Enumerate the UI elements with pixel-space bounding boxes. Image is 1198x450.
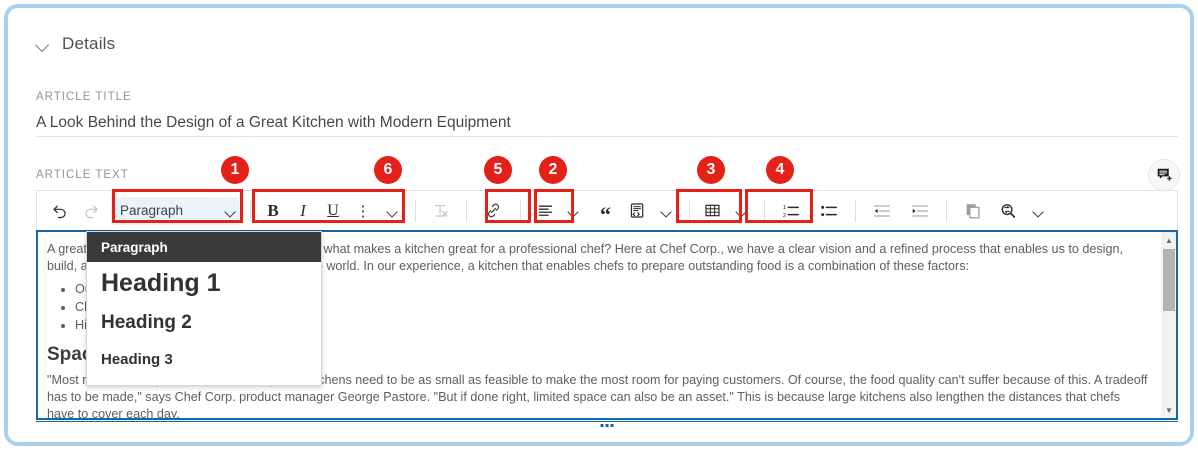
- increase-indent-icon: [910, 201, 930, 221]
- annotation-badge-6: 6: [374, 156, 402, 184]
- decrease-indent-button[interactable]: [863, 196, 901, 226]
- add-comment-button[interactable]: [1148, 159, 1180, 191]
- toolbar-divider: [689, 200, 690, 222]
- bold-button[interactable]: B: [258, 196, 288, 226]
- blockquote-button[interactable]: “: [589, 196, 622, 226]
- insert-table-button[interactable]: [697, 196, 727, 226]
- align-left-icon: [536, 201, 555, 220]
- toolbar-divider: [855, 200, 856, 222]
- increase-indent-button[interactable]: [901, 196, 939, 226]
- annotation-badge-4: 4: [766, 156, 794, 184]
- scroll-down-icon[interactable]: ▼: [1161, 402, 1177, 418]
- bulleted-list-button[interactable]: [810, 196, 848, 226]
- numbered-list-icon: 1 2: [781, 201, 801, 221]
- toolbar-divider: [946, 200, 947, 222]
- remove-format-icon: [431, 201, 451, 221]
- paragraph-style-dropdown-menu[interactable]: Paragraph Heading 1 Heading 2 Heading 3: [86, 231, 322, 386]
- page-frame: Details ARTICLE TITLE A Look Behind the …: [4, 4, 1194, 446]
- editor-toolbar: Paragraph B I U ⋮: [36, 190, 1178, 230]
- svg-text:2: 2: [783, 212, 786, 218]
- scrollbar-thumb[interactable]: [1163, 249, 1175, 311]
- remove-format-button[interactable]: [423, 196, 459, 226]
- article-title-label: ARTICLE TITLE: [36, 91, 132, 103]
- add-comment-icon: [1156, 167, 1173, 184]
- underline-button[interactable]: U: [318, 196, 348, 226]
- toolbar-divider: [764, 200, 765, 222]
- scroll-up-icon[interactable]: ▲: [1161, 232, 1177, 248]
- find-replace-icon: [998, 201, 1018, 221]
- italic-button[interactable]: I: [288, 196, 318, 226]
- code-block-button[interactable]: [622, 196, 652, 226]
- decrease-indent-icon: [872, 201, 892, 221]
- editor-resize-handle[interactable]: [36, 421, 1178, 428]
- svg-text:1: 1: [783, 205, 786, 211]
- article-title-input[interactable]: A Look Behind the Design of a Great Kitc…: [36, 114, 511, 132]
- paragraph-style-select[interactable]: Paragraph: [111, 197, 239, 225]
- quote-icon: “: [600, 205, 611, 225]
- table-icon: [703, 201, 722, 220]
- undo-icon: [51, 201, 70, 220]
- annotation-badge-3: 3: [697, 156, 725, 184]
- annotation-badge-1: 1: [221, 156, 249, 184]
- paragraph-style-value: Paragraph: [120, 203, 183, 218]
- link-button[interactable]: [474, 196, 513, 226]
- editor-vertical-scrollbar[interactable]: ▲ ▼: [1160, 232, 1176, 418]
- annotation-badge-5: 5: [484, 156, 512, 184]
- paste-icon: [963, 201, 983, 221]
- toolbar-divider: [415, 200, 416, 222]
- find-replace-button[interactable]: [992, 196, 1024, 226]
- paste-button[interactable]: [954, 196, 992, 226]
- more-text-styles-button[interactable]: ⋮: [348, 196, 378, 226]
- dropdown-option-paragraph[interactable]: Paragraph: [87, 232, 321, 262]
- toolbar-divider: [466, 200, 467, 222]
- code-block-caret-button[interactable]: [652, 196, 682, 226]
- text-alignment-caret-button[interactable]: [559, 196, 589, 226]
- redo-icon: [81, 201, 100, 220]
- link-icon: [484, 201, 503, 220]
- code-block-icon: [628, 201, 647, 220]
- toolbar-divider: [520, 200, 521, 222]
- find-replace-caret-button[interactable]: [1024, 196, 1054, 226]
- article-text-label: ARTICLE TEXT: [36, 169, 129, 181]
- chevron-down-icon[interactable]: [36, 37, 50, 51]
- toolbar-divider: [250, 200, 251, 222]
- more-text-styles-caret-button[interactable]: [378, 196, 408, 226]
- dropdown-option-heading-2[interactable]: Heading 2: [87, 304, 321, 342]
- text-alignment-button[interactable]: [528, 196, 559, 226]
- article-title-underline: [36, 136, 1178, 137]
- undo-button[interactable]: [45, 196, 75, 226]
- details-section-header[interactable]: Details: [36, 34, 115, 54]
- resize-grip-icon: [601, 424, 614, 427]
- bulleted-list-icon: [819, 201, 839, 221]
- dropdown-option-heading-1[interactable]: Heading 1: [87, 262, 321, 304]
- redo-button[interactable]: [75, 196, 105, 226]
- dropdown-option-heading-3[interactable]: Heading 3: [87, 342, 321, 376]
- annotation-badge-2: 2: [539, 156, 567, 184]
- insert-table-caret-button[interactable]: [727, 196, 757, 226]
- page-title: Details: [62, 34, 115, 54]
- details-panel: Details ARTICLE TITLE A Look Behind the …: [8, 8, 1190, 442]
- numbered-list-button[interactable]: 1 2: [772, 196, 810, 226]
